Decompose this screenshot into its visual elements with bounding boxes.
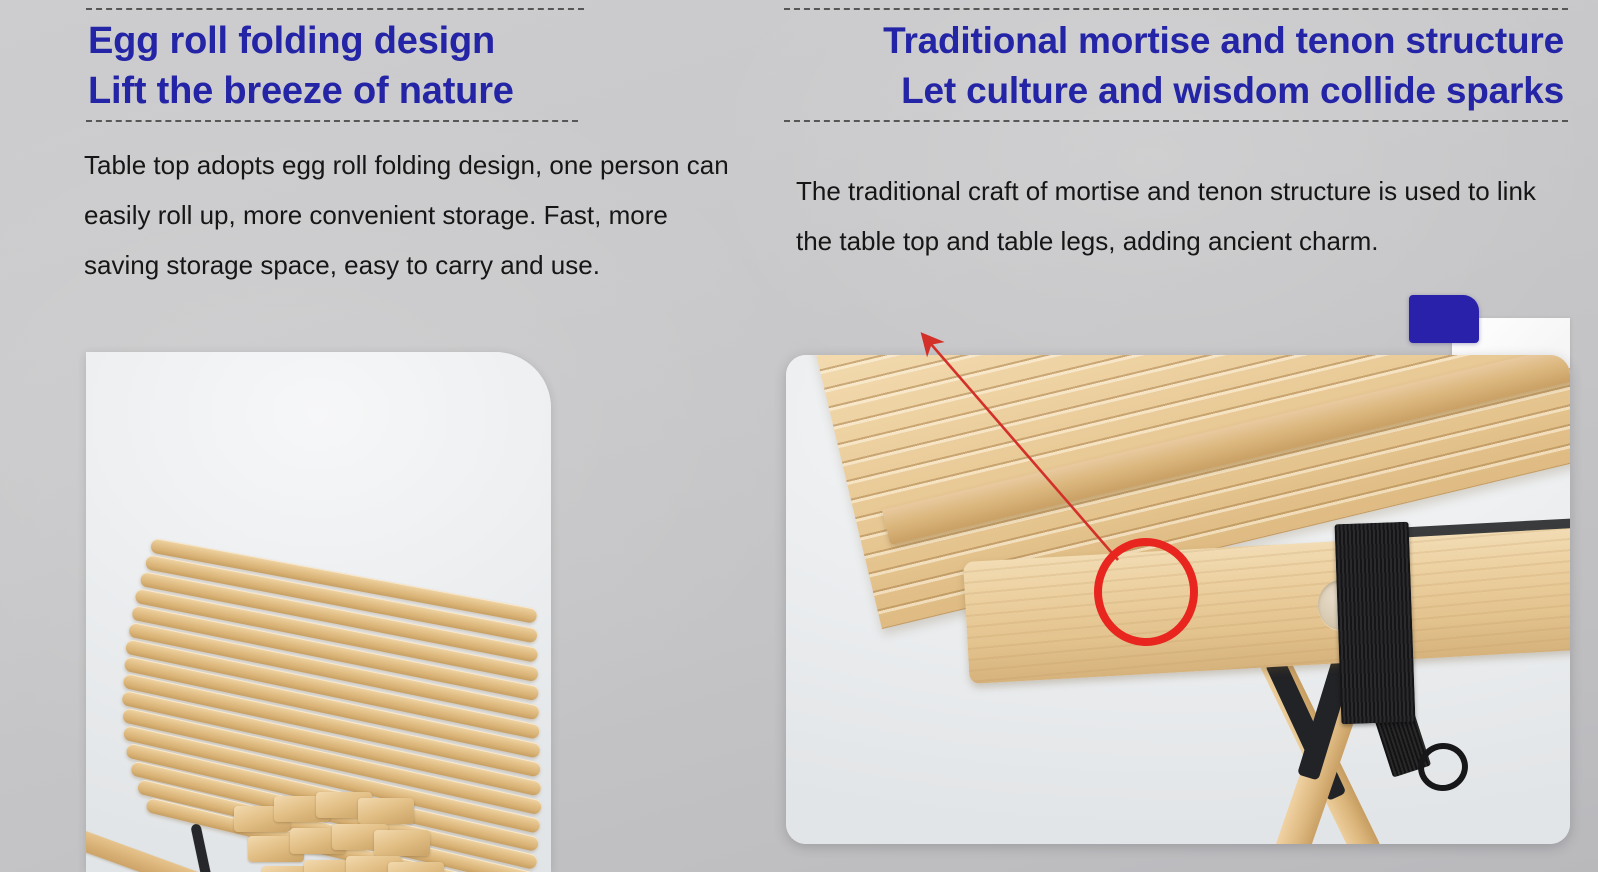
right-heading-top-divider bbox=[784, 8, 1568, 10]
left-heading-top-divider bbox=[86, 8, 584, 10]
right-heading-line-2: Let culture and wisdom collide sparks bbox=[784, 66, 1564, 116]
right-photo-strap bbox=[1335, 522, 1416, 724]
left-heading: Egg roll folding design Lift the breeze … bbox=[86, 10, 586, 118]
left-heading-line-1: Egg roll folding design bbox=[88, 16, 586, 66]
right-product-photo bbox=[786, 355, 1570, 844]
left-body-text: Table top adopts egg roll folding design… bbox=[84, 140, 734, 290]
left-column-heading-block: Egg roll folding design Lift the breeze … bbox=[86, 8, 586, 122]
right-column-heading-block: Traditional mortise and tenon structure … bbox=[784, 8, 1568, 122]
left-photo-scene bbox=[86, 352, 551, 872]
right-heading-bottom-divider bbox=[784, 120, 1568, 122]
left-photo-slat-ends bbox=[228, 792, 478, 872]
right-heading-line-1: Traditional mortise and tenon structure bbox=[784, 16, 1564, 66]
slide-canvas: Egg roll folding design Lift the breeze … bbox=[0, 0, 1598, 872]
right-photo-scene bbox=[786, 355, 1570, 844]
blue-badge-decoration bbox=[1409, 295, 1479, 343]
right-heading: Traditional mortise and tenon structure … bbox=[784, 10, 1568, 118]
left-heading-bottom-divider bbox=[86, 120, 578, 122]
right-body-text: The traditional craft of mortise and ten… bbox=[796, 166, 1558, 266]
left-heading-line-2: Lift the breeze of nature bbox=[88, 66, 586, 116]
left-product-photo bbox=[86, 352, 551, 872]
